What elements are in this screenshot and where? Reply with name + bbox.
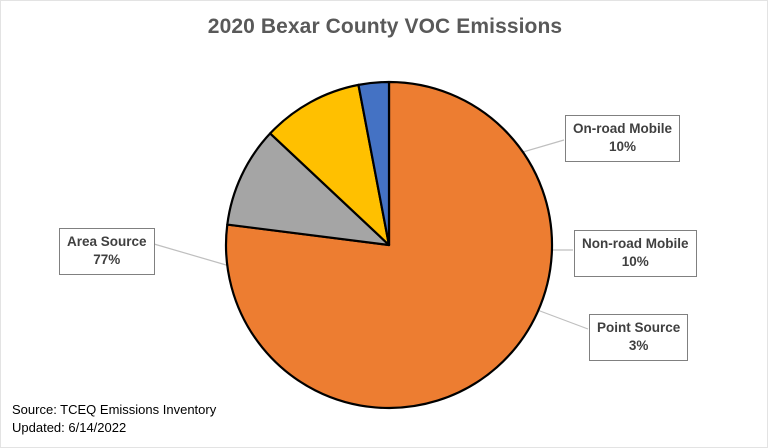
pie-label-point-source[interactable]: Point Source 3% <box>589 314 688 361</box>
chart-canvas: 2020 Bexar County VOC Emissions Area Sou… <box>0 0 768 448</box>
pie-label-area-source-name: Area Source <box>67 233 147 251</box>
pie-label-point-source-name: Point Source <box>597 319 680 337</box>
footnote-source: Source: TCEQ Emissions Inventory <box>12 401 216 419</box>
pie-label-onroad-mobile-percent: 10% <box>573 138 672 156</box>
pie-chart-graphic <box>1 1 768 448</box>
pie-label-area-source[interactable]: Area Source 77% <box>59 228 155 275</box>
leader-line-area-source <box>154 244 233 267</box>
pie-label-nonroad-mobile-name: Non-road Mobile <box>582 235 689 253</box>
pie-label-onroad-mobile[interactable]: On-road Mobile 10% <box>565 115 680 162</box>
pie-slices <box>226 82 552 408</box>
footnote-updated: Updated: 6/14/2022 <box>12 419 216 437</box>
pie-label-nonroad-mobile[interactable]: Non-road Mobile 10% <box>574 230 697 277</box>
pie-label-onroad-mobile-name: On-road Mobile <box>573 120 672 138</box>
pie-label-area-source-percent: 77% <box>67 251 147 269</box>
pie-label-point-source-percent: 3% <box>597 337 680 355</box>
pie-label-nonroad-mobile-percent: 10% <box>582 253 689 271</box>
chart-footnote: Source: TCEQ Emissions Inventory Updated… <box>12 401 216 438</box>
